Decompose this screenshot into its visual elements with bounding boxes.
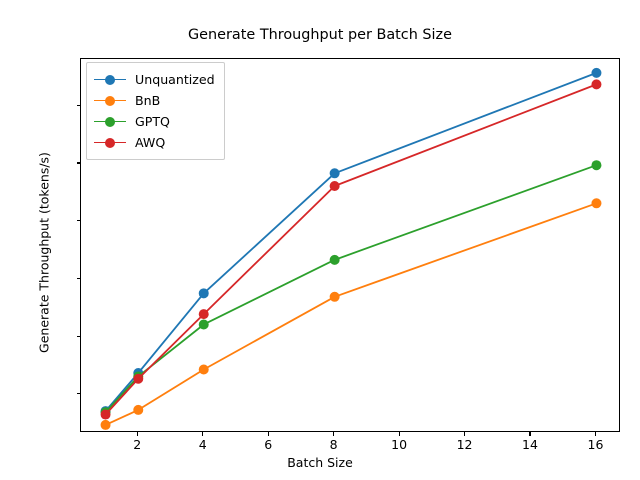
x-tick-label: 16: [575, 437, 615, 452]
data-point-marker: [591, 79, 601, 89]
legend-marker-icon: [94, 115, 126, 129]
chart-legend: UnquantizedBnBGPTQAWQ: [86, 62, 225, 160]
x-tick-label: 6: [248, 437, 288, 452]
legend-item: GPTQ: [94, 111, 215, 132]
data-point-marker: [199, 319, 209, 329]
data-point-marker: [133, 405, 143, 415]
data-point-marker: [330, 255, 340, 265]
legend-marker-icon: [94, 73, 126, 87]
data-point-marker: [591, 160, 601, 170]
legend-item: AWQ: [94, 132, 215, 153]
legend-label: BnB: [135, 93, 160, 108]
x-tick-label: 2: [117, 437, 157, 452]
data-point-marker: [101, 410, 111, 420]
data-point-marker: [199, 365, 209, 375]
data-point-marker: [330, 168, 340, 178]
data-point-marker: [133, 374, 143, 384]
series-line: [106, 203, 597, 425]
x-tick-label: 14: [510, 437, 550, 452]
series-line: [106, 165, 597, 412]
data-point-marker: [199, 288, 209, 298]
legend-marker-icon: [94, 136, 126, 150]
data-point-marker: [199, 309, 209, 319]
data-point-marker: [101, 420, 111, 430]
legend-label: Unquantized: [135, 72, 215, 87]
x-tick-label: 12: [445, 437, 485, 452]
legend-label: AWQ: [135, 135, 165, 150]
data-point-marker: [330, 292, 340, 302]
x-tick-label: 4: [183, 437, 223, 452]
legend-item: Unquantized: [94, 69, 215, 90]
legend-marker-icon: [94, 94, 126, 108]
data-point-marker: [591, 198, 601, 208]
data-point-marker: [591, 68, 601, 78]
x-tick-label: 8: [314, 437, 354, 452]
data-point-marker: [330, 181, 340, 191]
y-axis-label: Generate Throughput (tokens/s): [37, 103, 52, 403]
x-axis-label: Batch Size: [0, 455, 640, 470]
x-tick-label: 10: [379, 437, 419, 452]
legend-item: BnB: [94, 90, 215, 111]
chart-figure: Generate Throughput per Batch Size 50100…: [0, 0, 640, 480]
legend-label: GPTQ: [135, 114, 170, 129]
